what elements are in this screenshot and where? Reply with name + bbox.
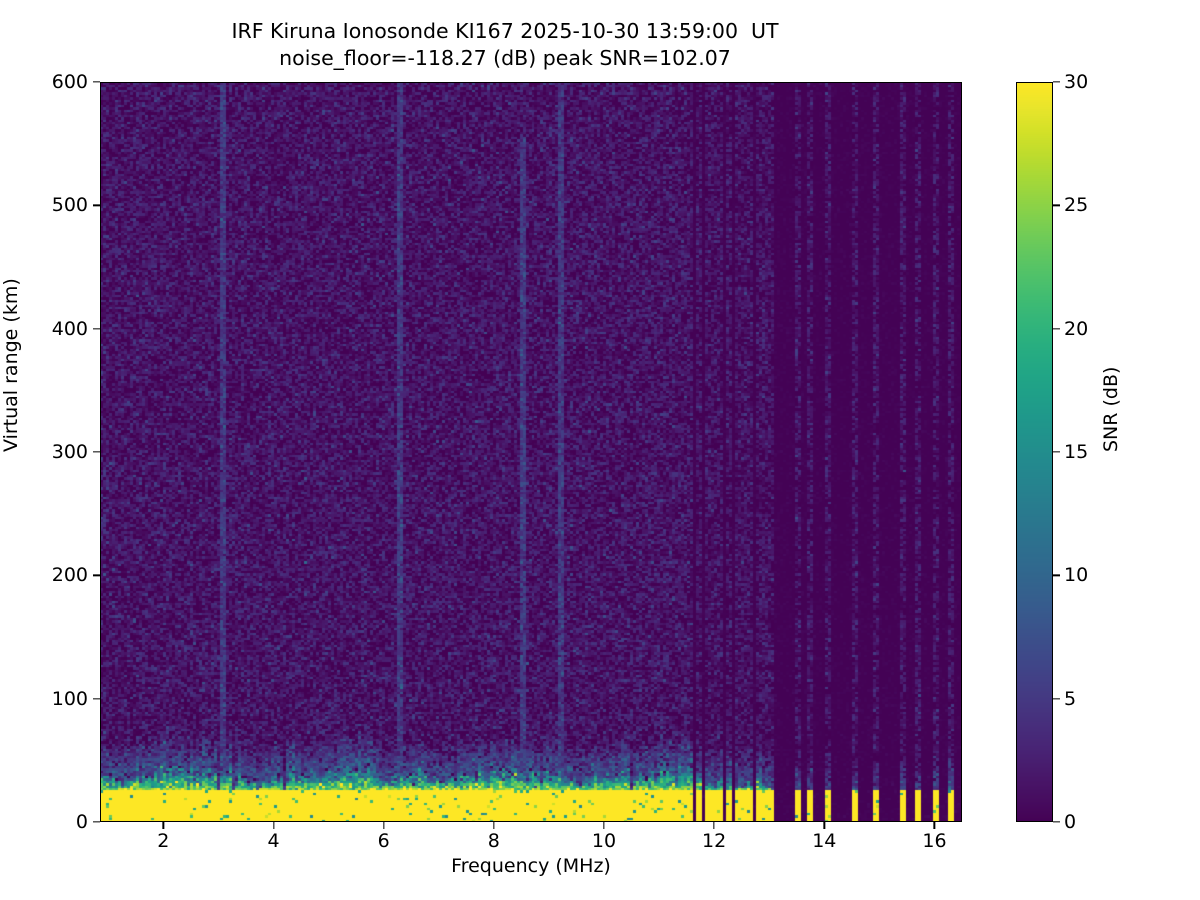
colorbar-tick-label: 5 [1064, 688, 1076, 710]
y-tick-label: 500 [52, 194, 88, 216]
colorbar-tick-label: 15 [1064, 441, 1088, 463]
y-tick-mark [93, 821, 100, 822]
x-tick-label: 2 [157, 830, 169, 852]
x-tick-mark [163, 822, 164, 829]
x-tick-label: 10 [592, 830, 616, 852]
x-tick-label: 6 [378, 830, 390, 852]
x-tick-mark [713, 822, 714, 829]
colorbar-tick-mark [1053, 821, 1060, 822]
heatmap-plot-area[interactable] [100, 82, 962, 822]
y-axis-label: Virtual range (km) [0, 278, 22, 452]
colorbar-tick-label: 25 [1064, 194, 1088, 216]
colorbar-tick-mark [1053, 328, 1060, 329]
x-tick-mark [493, 822, 494, 829]
x-tick-label: 8 [488, 830, 500, 852]
y-tick-label: 600 [52, 71, 88, 93]
x-tick-mark [934, 822, 935, 829]
colorbar-tick-label: 30 [1064, 71, 1088, 93]
title-line-2: noise_floor=-118.27 (dB) peak SNR=102.07 [0, 45, 1010, 72]
x-tick-label: 16 [922, 830, 946, 852]
x-tick-label: 14 [812, 830, 836, 852]
colorbar-tick-mark [1053, 81, 1060, 82]
colorbar-tick-label: 20 [1064, 318, 1088, 340]
x-tick-label: 12 [702, 830, 726, 852]
y-tick-label: 200 [52, 564, 88, 586]
y-tick-mark [93, 698, 100, 699]
y-tick-mark [93, 81, 100, 82]
colorbar-label: SNR (dB) [1100, 367, 1122, 452]
y-tick-mark [93, 328, 100, 329]
x-tick-mark [383, 822, 384, 829]
colorbar-tick-mark [1053, 205, 1060, 206]
x-axis-label: Frequency (MHz) [100, 855, 962, 877]
x-tick-mark [603, 822, 604, 829]
colorbar-tick-mark [1053, 575, 1060, 576]
x-tick-label: 4 [267, 830, 279, 852]
colorbar-gradient [1017, 83, 1053, 822]
y-tick-label: 100 [52, 688, 88, 710]
y-tick-mark [93, 575, 100, 576]
colorbar-tick-label: 0 [1064, 811, 1076, 833]
page-title: IRF Kiruna Ionosonde KI167 2025-10-30 13… [0, 18, 1010, 72]
y-tick-label: 400 [52, 318, 88, 340]
ionogram-figure: IRF Kiruna Ionosonde KI167 2025-10-30 13… [0, 0, 1200, 900]
y-tick-label: 300 [52, 441, 88, 463]
title-line-1: IRF Kiruna Ionosonde KI167 2025-10-30 13… [0, 18, 1010, 45]
y-tick-mark [93, 451, 100, 452]
x-tick-mark [273, 822, 274, 829]
x-tick-mark [824, 822, 825, 829]
ionogram-heatmap[interactable] [101, 83, 962, 822]
colorbar[interactable] [1016, 82, 1053, 822]
colorbar-tick-mark [1053, 698, 1060, 699]
y-tick-label: 0 [76, 811, 88, 833]
colorbar-tick-label: 10 [1064, 564, 1088, 586]
y-tick-mark [93, 205, 100, 206]
colorbar-tick-mark [1053, 451, 1060, 452]
